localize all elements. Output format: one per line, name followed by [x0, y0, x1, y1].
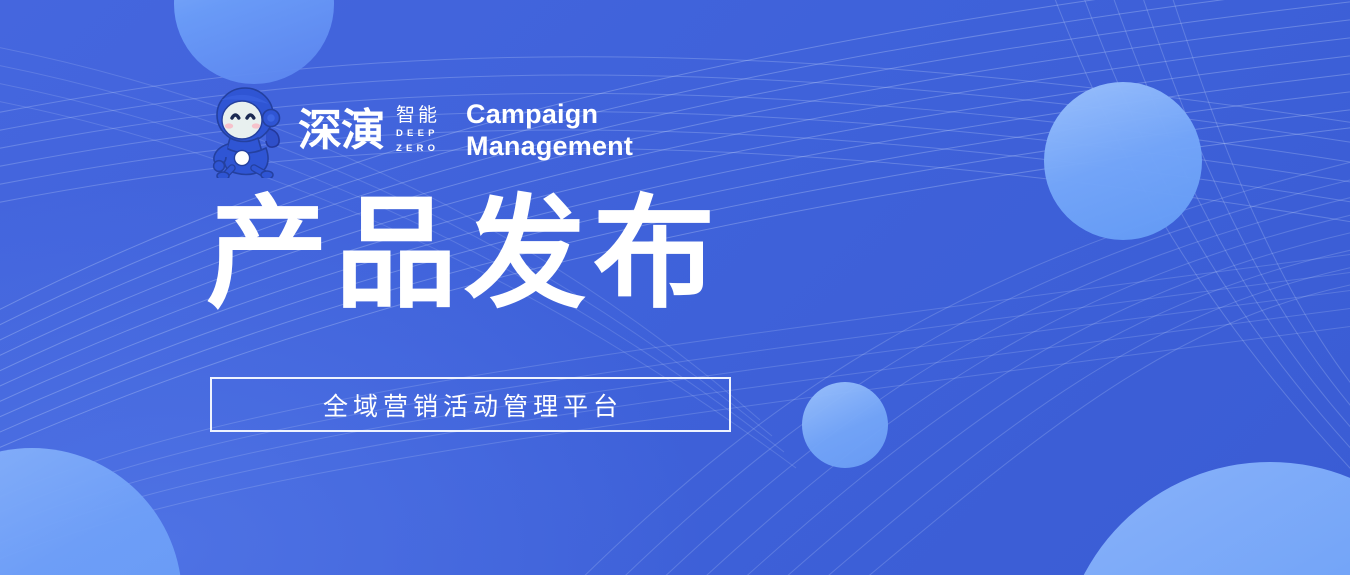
brand-name-en-line2: ZERO [396, 143, 440, 155]
brand-name-en-line1: DEEP [396, 128, 440, 140]
product-name-line2: Management [466, 131, 633, 161]
subtitle-box: 全域营销活动管理平台 [210, 377, 731, 432]
brand-wordmark: 深演 智能 DEEP ZERO Campaign Management [298, 98, 633, 163]
brand-name-cn: 深演 [298, 109, 384, 153]
brand-name-secondary: 智能 DEEP ZERO [396, 106, 440, 154]
subtitle-text: 全域营销活动管理平台 [318, 387, 623, 423]
product-launch-banner: 深演 智能 DEEP ZERO Campaign Management 产品发布… [0, 0, 1350, 575]
banner-content: 深演 智能 DEEP ZERO Campaign Management 产品发布… [0, 0, 1350, 575]
product-name-line1: Campaign [466, 99, 598, 129]
product-name-en: Campaign Management [466, 98, 633, 163]
robot-mascot-icon [206, 82, 288, 178]
brand-name-cn-sub: 智能 [396, 106, 440, 125]
brand-logo-row: 深演 智能 DEEP ZERO Campaign Management [206, 82, 633, 178]
page-title: 产品发布 [206, 193, 722, 315]
